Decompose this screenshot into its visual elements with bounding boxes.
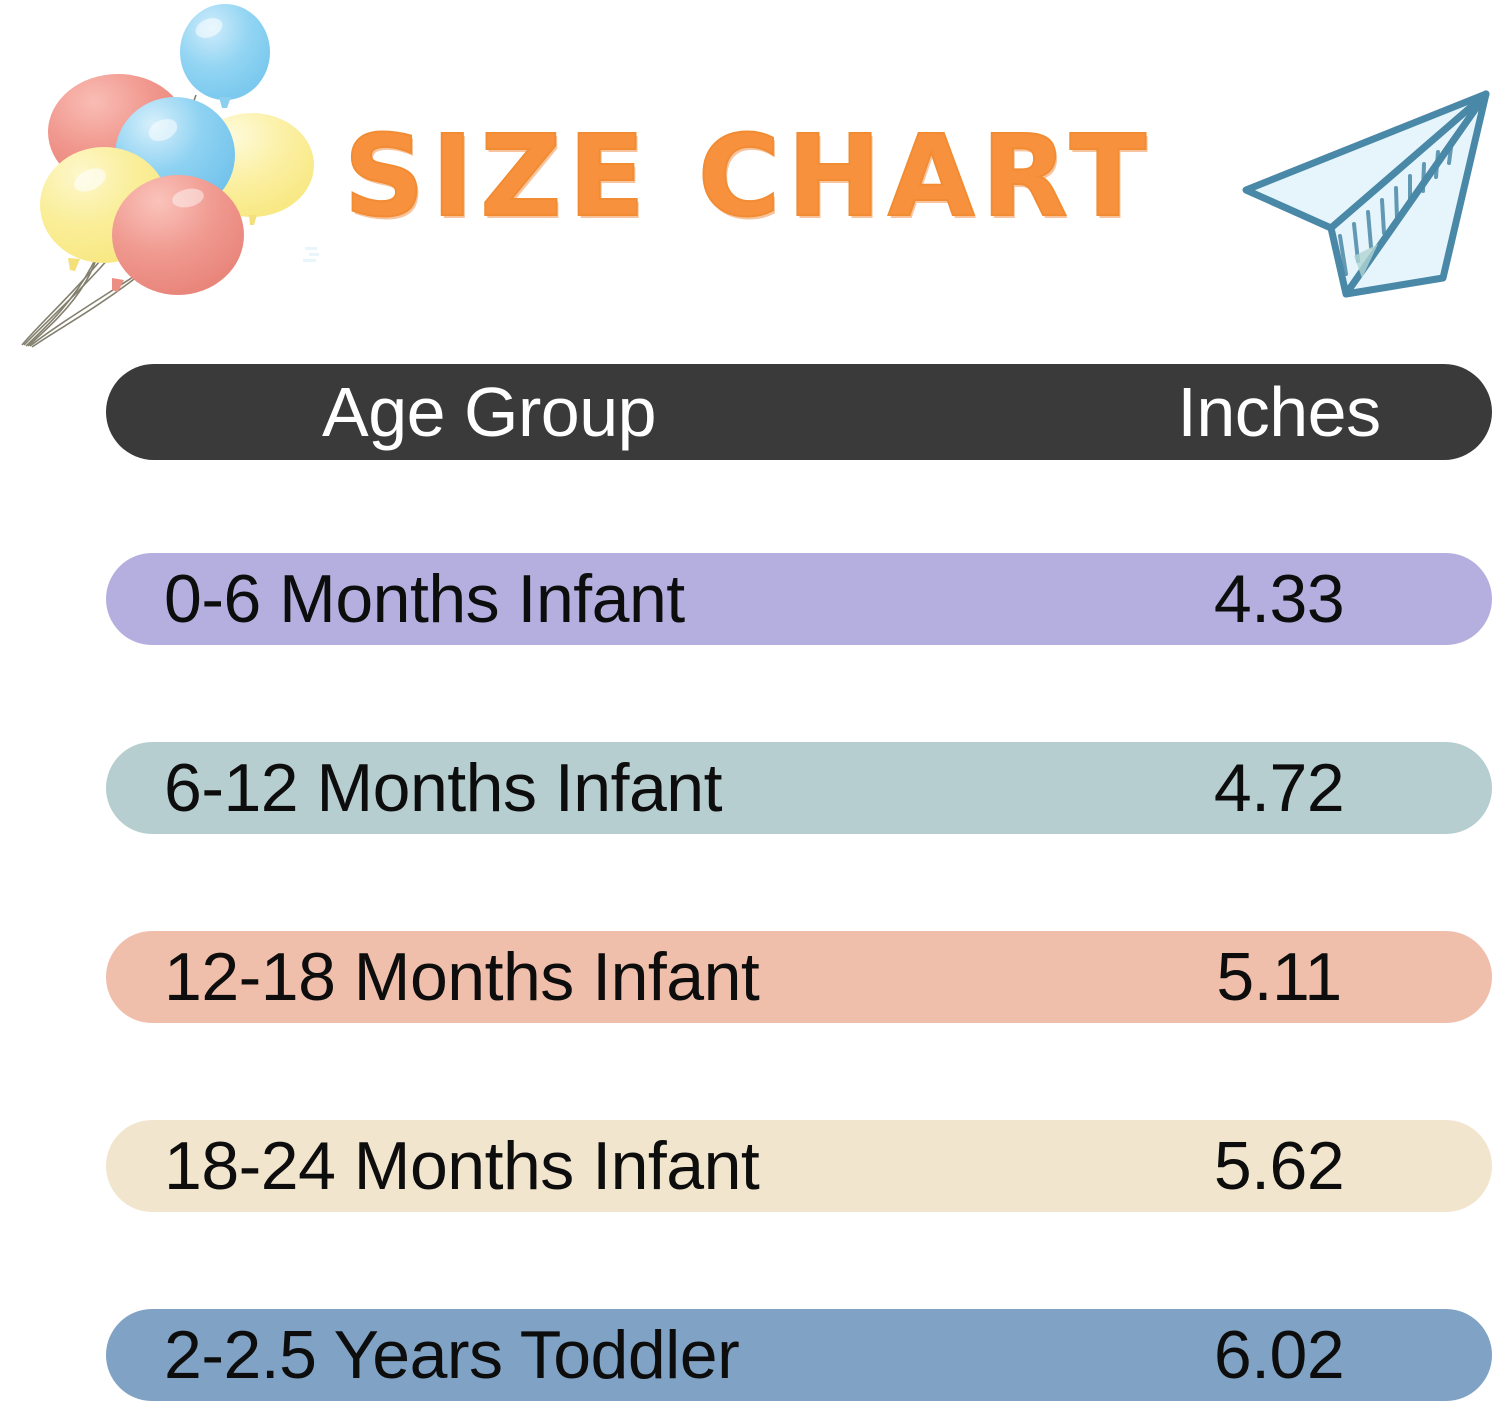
row-inches: 4.33 (1154, 563, 1404, 635)
table-row: 18-24 Months Infant 5.62 (106, 1120, 1492, 1212)
row-inches: 5.62 (1154, 1130, 1404, 1202)
row-age-group: 6-12 Months Infant (164, 752, 722, 824)
row-inches: 5.11 (1154, 941, 1404, 1013)
table-row: 2-2.5 Years Toddler 6.02 (106, 1309, 1492, 1401)
table-row: 12-18 Months Infant 5.11 (106, 931, 1492, 1023)
row-age-group: 0-6 Months Infant (164, 563, 685, 635)
size-chart-table: Age Group Inches 0-6 Months Infant 4.33 … (106, 364, 1492, 1401)
row-age-group: 12-18 Months Infant (164, 941, 759, 1013)
table-row: 6-12 Months Infant 4.72 (106, 742, 1492, 834)
table-row: 0-6 Months Infant 4.33 (106, 553, 1492, 645)
row-age-group: 18-24 Months Infant (164, 1130, 759, 1202)
row-inches: 4.72 (1154, 752, 1404, 824)
table-header-row: Age Group Inches (106, 364, 1492, 460)
row-age-group: 2-2.5 Years Toddler (164, 1319, 739, 1391)
row-inches: 6.02 (1154, 1319, 1404, 1391)
page-title: SIZE CHART (0, 112, 1497, 242)
column-header-inches: Inches (1154, 375, 1404, 449)
column-header-age-group: Age Group (322, 375, 656, 449)
